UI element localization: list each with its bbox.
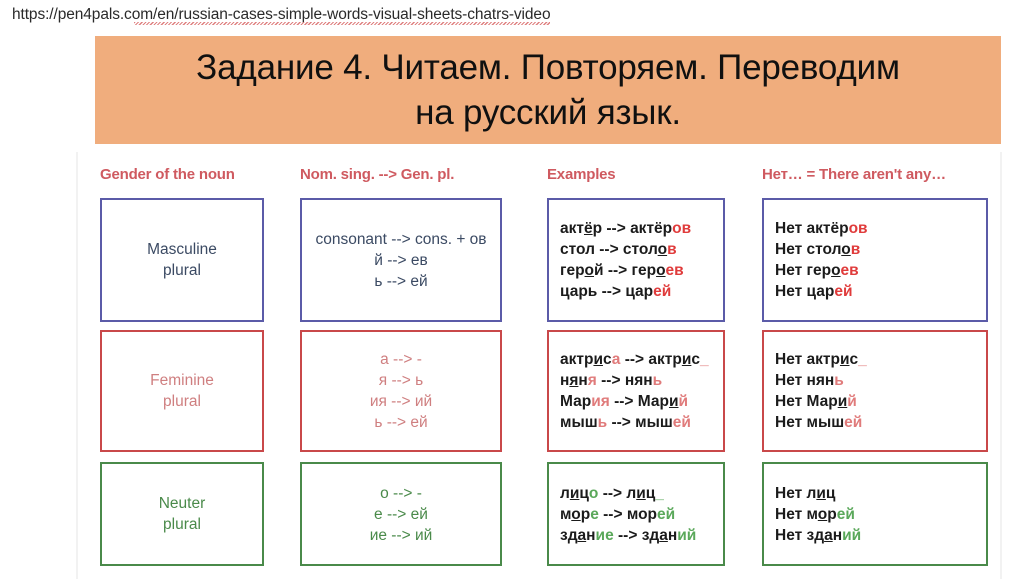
cell-negative-neuter: Нет лиц Нет морей Нет зданий — [762, 462, 988, 566]
column-header-forms: Nom. sing. --> Gen. pl. — [300, 166, 454, 183]
examples-text-masculine: актёр --> актёров стол --> столов герой … — [549, 218, 691, 302]
cell-gender-neuter: Neuter plural — [100, 462, 264, 566]
negative-line: Нет мышей — [775, 414, 862, 431]
examples-text-feminine: актриса --> актрис_ няня --> нянь Мария … — [549, 349, 709, 433]
negative-text-neuter: Нет лиц Нет морей Нет зданий — [764, 483, 861, 546]
slide-title-banner: Задание 4. Читаем. Повторяем. Переводим … — [95, 36, 1001, 144]
negative-text-feminine: Нет актрис_ Нет нянь Нет Марий Нет мышей — [764, 349, 867, 433]
table-header-row: Gender of the noun Nom. sing. --> Gen. p… — [78, 166, 1000, 192]
grammar-table: Gender of the noun Nom. sing. --> Gen. p… — [78, 152, 1000, 579]
examples-text-neuter: лицо --> лиц_ море --> морей здание --> … — [549, 483, 696, 546]
gender-label-feminine: Feminine plural — [102, 370, 262, 412]
negative-text-masculine: Нет актёров Нет столов Нет героев Нет ца… — [764, 218, 868, 302]
column-header-examples: Examples — [547, 166, 615, 183]
cell-gender-masculine: Masculine plural — [100, 198, 264, 322]
cell-examples-feminine: актриса --> актрис_ няня --> нянь Мария … — [547, 330, 725, 452]
example-line: герой --> героев — [560, 262, 684, 279]
grammar-table-panel: Gender of the noun Nom. sing. --> Gen. p… — [76, 152, 1002, 579]
example-line: мышь --> мышей — [560, 414, 691, 431]
example-line: Мария --> Марий — [560, 393, 688, 410]
cell-rules-neuter: о --> - е --> ей ие --> ий — [300, 462, 502, 566]
example-line: няня --> нянь — [560, 372, 662, 389]
cell-negative-masculine: Нет актёров Нет столов Нет героев Нет ца… — [762, 198, 988, 322]
negative-line: Нет актрис_ — [775, 351, 867, 368]
example-line: стол --> столов — [560, 241, 677, 258]
rules-text-neuter: о --> - е --> ей ие --> ий — [302, 483, 500, 546]
negative-line: Нет актёров — [775, 220, 868, 237]
cell-rules-masculine: consonant --> cons. + ов й --> ев ь --> … — [300, 198, 502, 322]
rules-text-feminine: а --> - я --> ь ия --> ий ь --> ей — [302, 349, 500, 433]
cell-gender-feminine: Feminine plural — [100, 330, 264, 452]
cell-negative-feminine: Нет актрис_ Нет нянь Нет Марий Нет мышей — [762, 330, 988, 452]
negative-line: Нет Марий — [775, 393, 857, 410]
cell-examples-neuter: лицо --> лиц_ море --> морей здание --> … — [547, 462, 725, 566]
url-text: https://pen4pals.com/en/russian-cases-si… — [12, 6, 550, 24]
example-line: море --> морей — [560, 506, 675, 523]
page-title: Задание 4. Читаем. Повторяем. Переводим … — [196, 45, 900, 135]
negative-line: Нет героев — [775, 262, 859, 279]
example-line: актёр --> актёров — [560, 220, 691, 237]
example-line: актриса --> актрис_ — [560, 351, 709, 368]
example-line: царь --> царей — [560, 283, 671, 300]
negative-line: Нет лиц — [775, 485, 835, 502]
negative-line: Нет столов — [775, 241, 860, 258]
example-line: здание --> зданий — [560, 527, 696, 544]
negative-line: Нет зданий — [775, 527, 861, 544]
column-header-negative: Нет… = There aren't any… — [762, 166, 946, 183]
example-line: лицо --> лиц_ — [560, 485, 664, 502]
browser-url-bar[interactable]: https://pen4pals.com/en/russian-cases-si… — [0, 0, 1024, 30]
column-header-gender: Gender of the noun — [100, 166, 235, 183]
gender-label-neuter: Neuter plural — [102, 493, 262, 535]
cell-examples-masculine: актёр --> актёров стол --> столов герой … — [547, 198, 725, 322]
negative-line: Нет царей — [775, 283, 852, 300]
negative-line: Нет морей — [775, 506, 855, 523]
cell-rules-feminine: а --> - я --> ь ия --> ий ь --> ей — [300, 330, 502, 452]
negative-line: Нет нянь — [775, 372, 844, 389]
rules-text-masculine: consonant --> cons. + ов й --> ев ь --> … — [302, 229, 500, 292]
gender-label-masculine: Masculine plural — [102, 239, 262, 281]
